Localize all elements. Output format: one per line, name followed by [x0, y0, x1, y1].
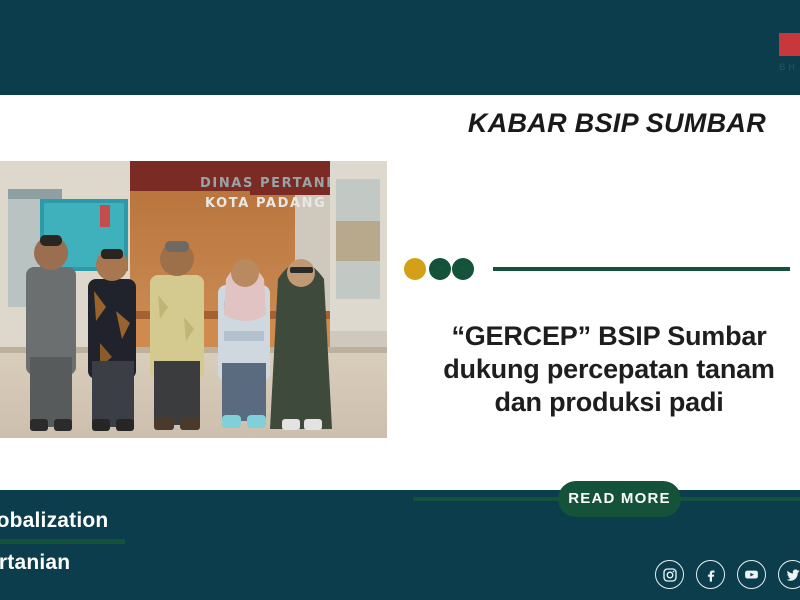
svg-text:KOTA PADANG: KOTA PADANG [205, 196, 326, 211]
cta-row: READ MORE [400, 481, 800, 517]
social-links [655, 560, 800, 589]
dot-2: ··· [429, 258, 451, 280]
facebook-icon[interactable] [696, 560, 725, 589]
footer-line-1: Globalization [0, 508, 234, 533]
content-card: KABAR BSIP SUMBAR [0, 95, 800, 490]
header-rule [493, 267, 790, 271]
article-headline: “GERCEP” BSIP Sumbar dukung percepatan t… [400, 320, 800, 419]
dot-1: ··· [404, 258, 426, 280]
twitter-icon[interactable] [778, 560, 800, 589]
decorative-dot-row: ··· ··· ··· [400, 258, 800, 280]
instagram-icon[interactable] [655, 560, 684, 589]
dot-3: ··· [452, 258, 474, 280]
headline-line-2: dukung percepatan tanam [400, 353, 800, 386]
corner-label: B H [779, 62, 800, 73]
youtube-icon[interactable] [737, 560, 766, 589]
read-more-button[interactable]: READ MORE [558, 481, 681, 517]
footer-divider [0, 539, 125, 544]
slide-canvas: B H KABAR BSIP SUMBAR [0, 0, 800, 600]
page-title: KABAR BSIP SUMBAR [0, 108, 766, 139]
red-badge [779, 33, 800, 56]
headline-line-1: “GERCEP” BSIP Sumbar [400, 320, 800, 353]
footer-line-2: pertanian [0, 550, 234, 575]
article-photo: DINAS PERTANIAN KOTA PADANG [0, 161, 387, 438]
headline-line-3: dan produksi padi [400, 386, 800, 419]
footer-text-block: Globalization pertanian [0, 508, 234, 575]
